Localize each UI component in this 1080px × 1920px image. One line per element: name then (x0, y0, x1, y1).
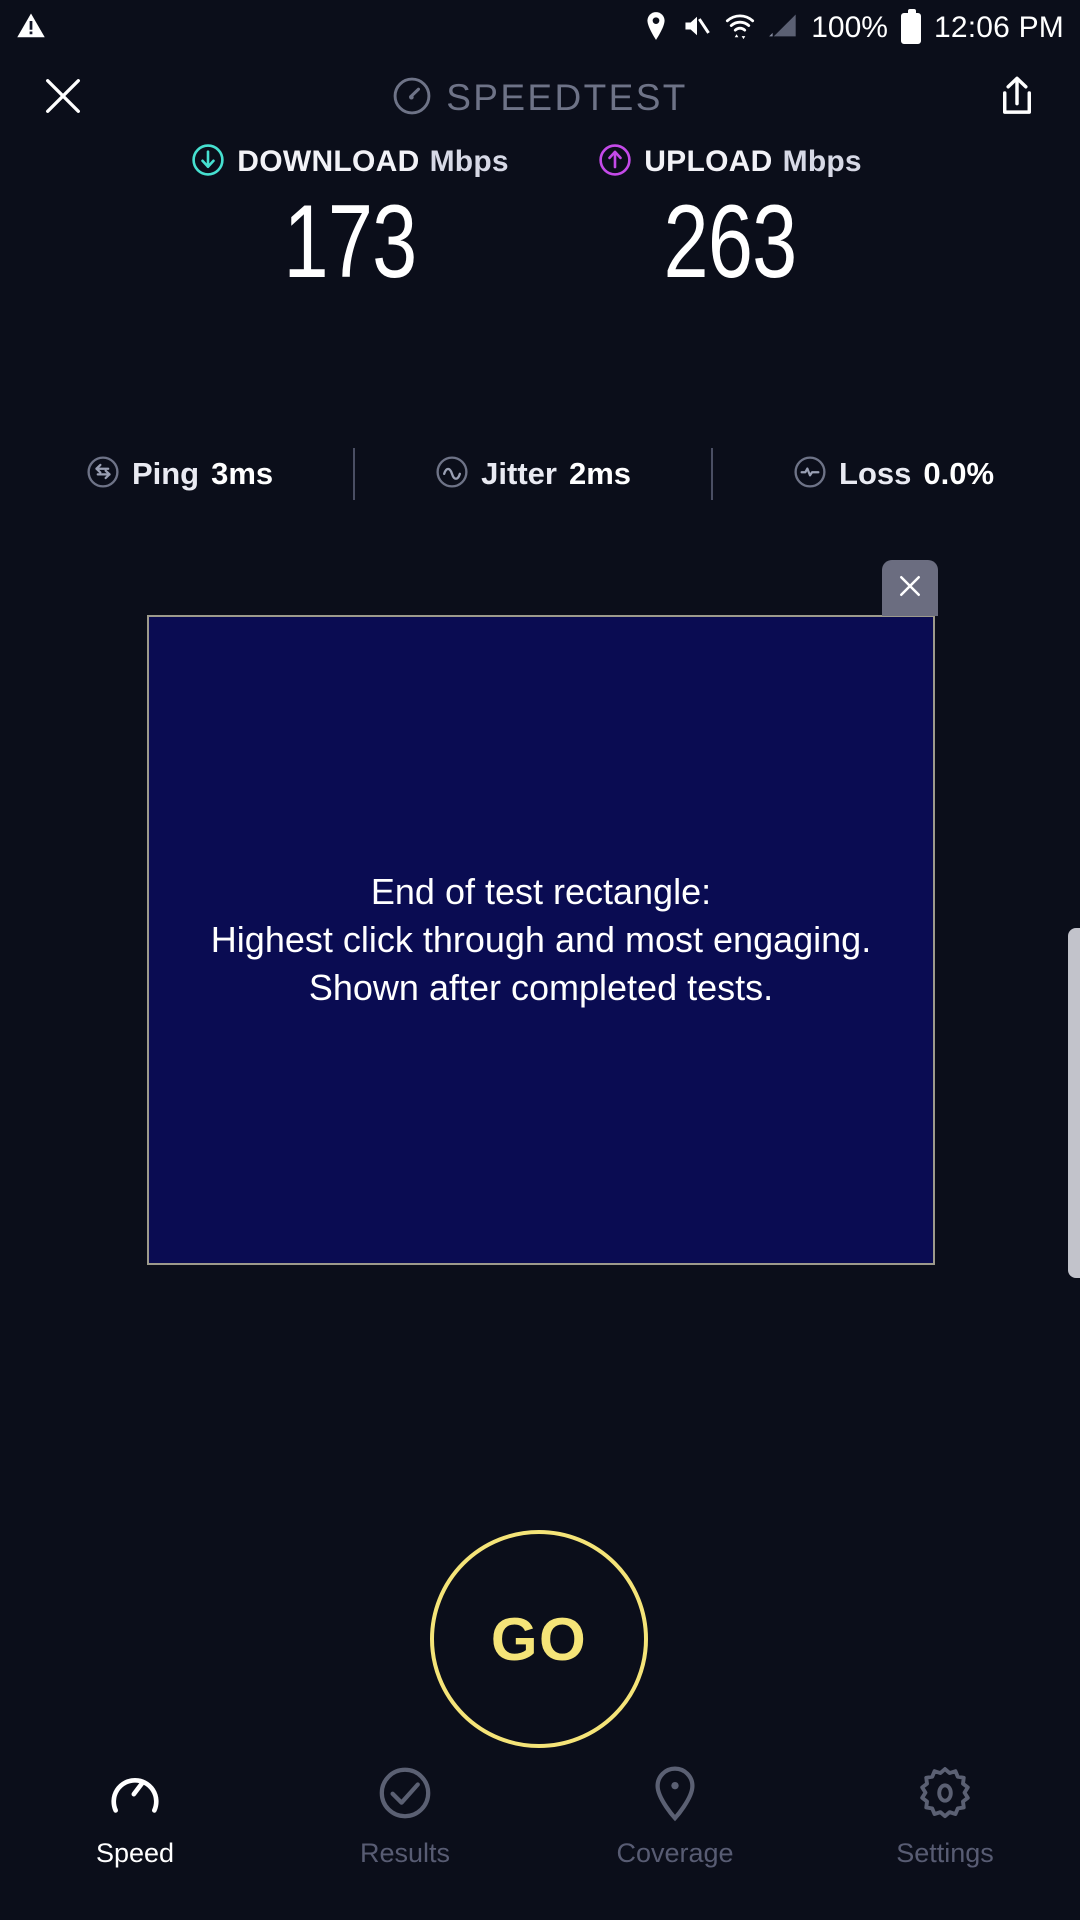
speedometer-icon (392, 76, 432, 121)
app-title-text: SPEEDTEST (446, 77, 688, 119)
nav-item-speed[interactable]: Speed (0, 1762, 270, 1869)
battery-full-icon (901, 13, 921, 44)
status-bar-clock: 12:06 PM (934, 11, 1064, 45)
download-result: DOWNLOAD Mbps 173 (160, 140, 540, 296)
ad-close-button[interactable] (882, 560, 938, 616)
close-icon (895, 571, 925, 606)
map-pin-icon (646, 1762, 704, 1824)
nav-item-coverage[interactable]: Coverage (540, 1762, 810, 1869)
speedtest-app-screen: 100% 12:06 PM SPEEDTEST (0, 0, 1080, 1920)
speedometer-icon (106, 1762, 164, 1824)
nav-label-results: Results (360, 1838, 450, 1869)
download-unit: Mbps (430, 145, 509, 179)
jitter-icon (435, 455, 469, 494)
upload-label: UPLOAD (644, 145, 772, 179)
connection-metrics-row: Ping 3ms Jitter 2ms (0, 440, 1080, 508)
nav-label-speed: Speed (96, 1838, 174, 1869)
go-button[interactable]: GO (430, 1530, 648, 1748)
upload-value: 263 (582, 188, 878, 296)
ad-text: End of test rectangle: Highest click thr… (149, 868, 933, 1012)
download-header: DOWNLOAD Mbps (160, 140, 540, 184)
upload-unit: Mbps (783, 145, 862, 179)
share-icon[interactable] (994, 73, 1040, 124)
download-value: 173 (202, 188, 498, 296)
metric-loss: Loss 0.0% (771, 455, 1016, 494)
ad-banner[interactable]: End of test rectangle: Highest click thr… (147, 615, 935, 1265)
ad-line-1: End of test rectangle: (149, 868, 933, 916)
download-label: DOWNLOAD (237, 145, 419, 179)
metric-divider (711, 448, 713, 500)
mute-icon (682, 12, 712, 45)
loss-value: 0.0% (923, 456, 994, 492)
upload-header: UPLOAD Mbps (540, 140, 920, 184)
status-bar-right: 100% 12:06 PM (643, 11, 1064, 46)
loss-label: Loss (839, 456, 911, 492)
ad-line-3: Shown after completed tests. (149, 964, 933, 1012)
nav-item-results[interactable]: Results (270, 1762, 540, 1869)
bottom-navigation: Speed Results Coverage (0, 1750, 1080, 1920)
metric-jitter: Jitter 2ms (413, 455, 653, 494)
download-arrow-icon (191, 143, 225, 182)
status-bar-left (16, 11, 46, 46)
close-icon[interactable] (40, 73, 86, 124)
status-bar: 100% 12:06 PM (0, 0, 1080, 56)
speed-values-row: DOWNLOAD Mbps 173 UPLOAD Mbps (0, 140, 1080, 296)
jitter-label: Jitter (481, 456, 557, 492)
scrollbar-thumb[interactable] (1068, 928, 1080, 1278)
warning-triangle-icon (16, 11, 46, 46)
check-circle-icon (376, 1762, 434, 1824)
nav-item-settings[interactable]: Settings (810, 1762, 1080, 1869)
ping-icon (86, 455, 120, 494)
metric-divider (353, 448, 355, 500)
app-title: SPEEDTEST (0, 76, 1080, 121)
app-header: SPEEDTEST (0, 56, 1080, 140)
upload-result: UPLOAD Mbps 263 (540, 140, 920, 296)
upload-arrow-icon (598, 143, 632, 182)
battery-percent: 100% (811, 11, 888, 45)
loss-icon (793, 455, 827, 494)
jitter-value: 2ms (569, 456, 631, 492)
ad-line-2: Highest click through and most engaging. (149, 916, 933, 964)
nav-label-coverage: Coverage (616, 1838, 733, 1869)
go-button-label: GO (491, 1605, 587, 1674)
gear-icon (916, 1762, 974, 1824)
nav-label-settings: Settings (896, 1838, 994, 1869)
metric-ping: Ping 3ms (64, 455, 295, 494)
wifi-icon (725, 11, 755, 46)
location-pin-icon (643, 11, 669, 46)
ping-label: Ping (132, 456, 199, 492)
ping-value: 3ms (211, 456, 273, 492)
cellular-signal-icon (768, 12, 798, 45)
results-summary: DOWNLOAD Mbps 173 UPLOAD Mbps (0, 140, 1080, 296)
